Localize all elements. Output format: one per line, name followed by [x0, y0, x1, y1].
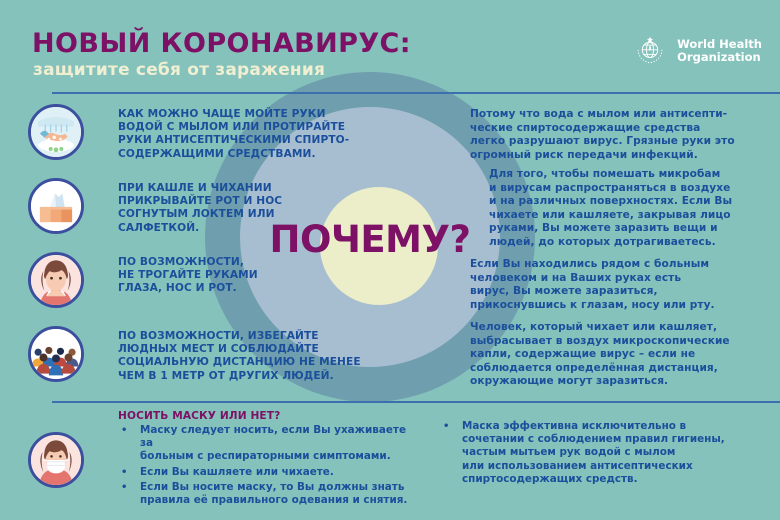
touch-face-icon [28, 252, 84, 308]
advice-text-1: КАК МОЖНО ЧАЩЕ МОЙТЕ РУКИ ВОДОЙ С МЫЛОМ … [118, 108, 388, 161]
list-item: Маску следует носить, если Вы ухаживаете… [118, 424, 418, 464]
why-label: ПОЧЕМУ? [205, 218, 535, 261]
tissue-box-icon [28, 178, 84, 234]
reason-text-3: Если Вы находились рядом с больным челов… [470, 258, 780, 312]
bottom-divider [52, 401, 780, 403]
page-subtitle: защитите себя от заражения [33, 60, 325, 80]
mask-section-heading: НОСИТЬ МАСКУ ИЛИ НЕТ? [118, 410, 280, 422]
list-item: Маска эффективна исключительно в сочетан… [440, 420, 770, 486]
who-emblem-icon [631, 32, 669, 70]
header-divider [52, 92, 780, 94]
page-title: НОВЫЙ КОРОНАВИРУС: [32, 28, 411, 59]
list-item: Если Вы кашляете или чихаете. [118, 466, 418, 479]
who-branding: World Health Organization [631, 32, 762, 70]
poster-header: НОВЫЙ КОРОНАВИРУС: защитите себя от зара… [0, 0, 780, 94]
masked-person-icon [28, 432, 84, 488]
infographic-poster: НОВЫЙ КОРОНАВИРУС: защитите себя от зара… [0, 0, 780, 520]
list-item: Если Вы носите маску, то Вы должны знать… [118, 481, 418, 507]
advice-text-3: ПО ВОЗМОЖНОСТИ, НЕ ТРОГАЙТЕ РУКАМИ ГЛАЗА… [118, 256, 388, 296]
mask-bullets-right: Маска эффективна исключительно в сочетан… [440, 420, 770, 488]
crowd-icon [28, 326, 84, 382]
who-org-name: World Health Organization [677, 38, 762, 64]
reason-text-1: Потому что вода с мылом или антисепти- ч… [470, 108, 780, 162]
advice-text-4: ПО ВОЗМОЖНОСТИ, ИЗБЕГАЙТЕ ЛЮДНЫХ МЕСТ И … [118, 330, 388, 383]
mask-bullets-left: Маску следует носить, если Вы ухаживаете… [118, 424, 418, 509]
handwashing-icon [28, 104, 84, 160]
reason-text-4: Человек, который чихает или кашляет, выб… [470, 321, 780, 389]
